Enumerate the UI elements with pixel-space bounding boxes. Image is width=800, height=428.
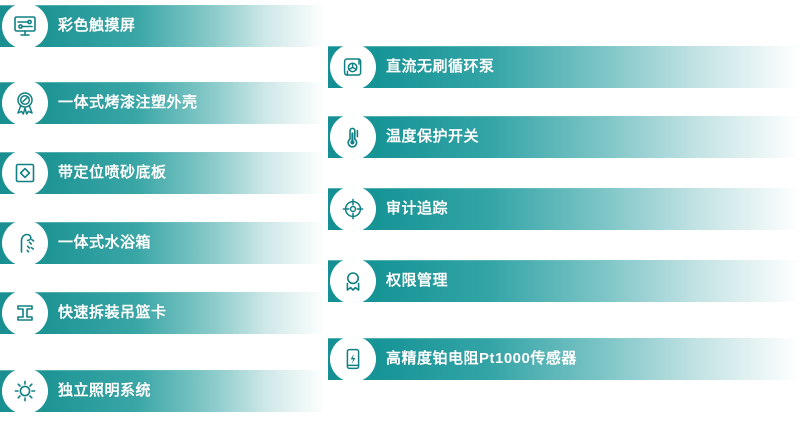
feature-bar-left-2[interactable]: 一体式烤漆注塑外壳 bbox=[0, 82, 325, 124]
feature-label: 高精度铂电阻Pt1000传感器 bbox=[386, 338, 577, 380]
feature-bar-left-1[interactable]: 彩色触摸屏 bbox=[0, 5, 325, 47]
sensor-bolt-icon bbox=[330, 336, 376, 382]
feature-label: 一体式水浴箱 bbox=[58, 222, 151, 264]
feature-bar-right-1[interactable]: 直流无刷循环泵 bbox=[328, 46, 800, 88]
crosshair-target-icon bbox=[330, 186, 376, 232]
feature-bar-left-6[interactable]: 独立照明系统 bbox=[0, 370, 325, 412]
feature-label: 一体式烤漆注塑外壳 bbox=[58, 82, 198, 124]
feature-bar-right-5[interactable]: 高精度铂电阻Pt1000传感器 bbox=[328, 338, 800, 380]
feature-label: 彩色触摸屏 bbox=[58, 5, 136, 47]
bar-hairline bbox=[0, 370, 325, 371]
touchscreen-monitor-icon bbox=[2, 3, 48, 49]
feature-bar-right-3[interactable]: 审计追踪 bbox=[328, 188, 800, 230]
feature-label: 快速拆装吊篮卡 bbox=[58, 292, 167, 334]
feature-bars-canvas: 彩色触摸屏 一体式烤漆注塑外壳 带定位喷砂底板 bbox=[0, 0, 800, 428]
feature-bar-right-4[interactable]: 权限管理 bbox=[328, 260, 800, 302]
bar-fill bbox=[0, 370, 325, 412]
feature-bar-left-3[interactable]: 带定位喷砂底板 bbox=[0, 152, 325, 194]
feature-label: 权限管理 bbox=[386, 260, 448, 302]
circulation-pump-icon bbox=[330, 44, 376, 90]
feature-label: 独立照明系统 bbox=[58, 370, 151, 412]
bar-hairline bbox=[0, 5, 325, 6]
feature-bar-left-5[interactable]: 快速拆装吊篮卡 bbox=[0, 292, 325, 334]
feature-label: 带定位喷砂底板 bbox=[58, 152, 167, 194]
feature-label: 审计追踪 bbox=[386, 188, 448, 230]
feature-label: 直流无刷循环泵 bbox=[386, 46, 495, 88]
sun-light-icon bbox=[2, 368, 48, 414]
user-badge-icon bbox=[330, 258, 376, 304]
bar-fill bbox=[0, 222, 325, 264]
feature-label: 温度保护开关 bbox=[386, 116, 479, 158]
feature-bar-right-2[interactable]: 温度保护开关 bbox=[328, 116, 800, 158]
shower-water-icon bbox=[2, 220, 48, 266]
award-ribbon-icon bbox=[2, 80, 48, 126]
thermometer-icon bbox=[330, 114, 376, 160]
bar-hairline bbox=[0, 222, 325, 223]
i-beam-clamp-icon bbox=[2, 290, 48, 336]
square-diamond-plate-icon bbox=[2, 150, 48, 196]
feature-bar-left-4[interactable]: 一体式水浴箱 bbox=[0, 222, 325, 264]
bar-fill bbox=[0, 5, 325, 47]
